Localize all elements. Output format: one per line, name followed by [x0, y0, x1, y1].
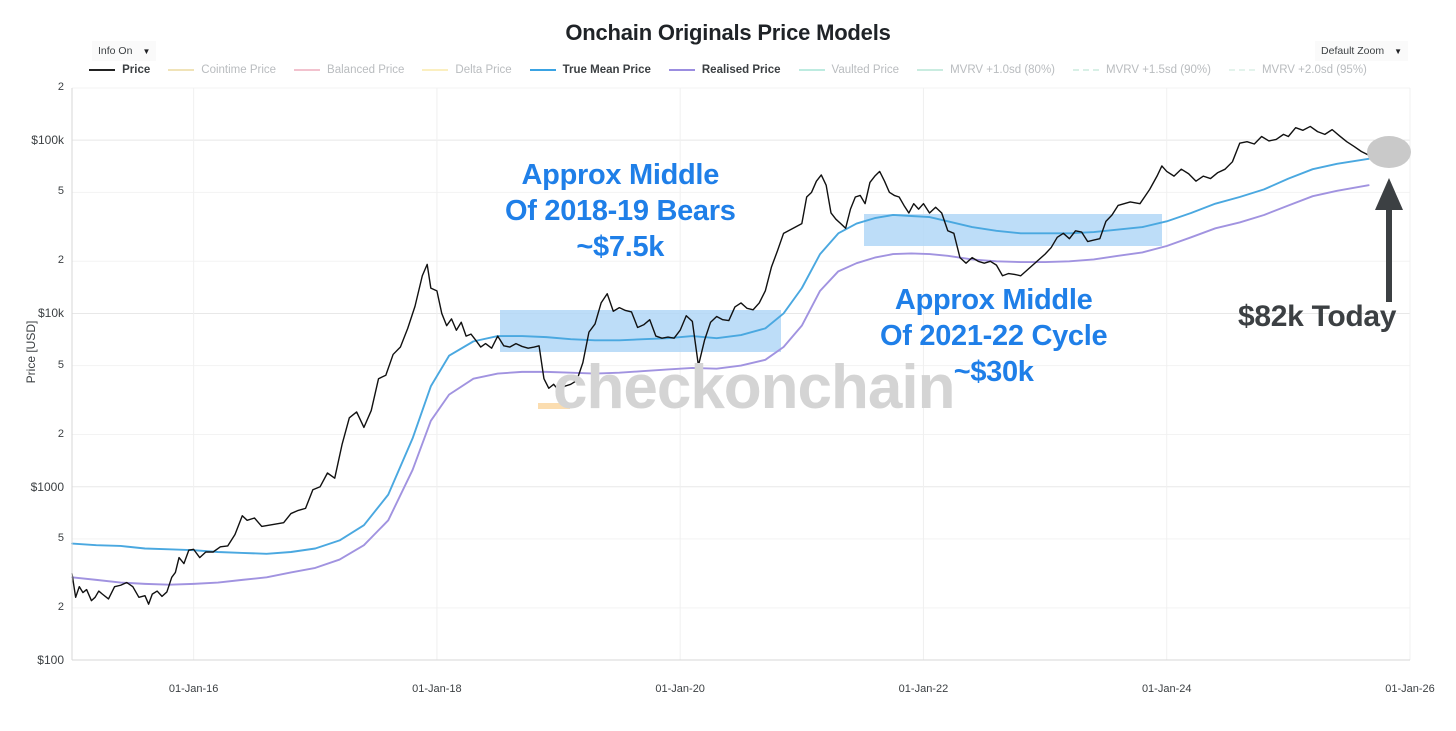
y-tick-label: $10k	[2, 306, 64, 320]
annotation-line: ~$7.5k	[505, 230, 736, 266]
x-tick-label: 01-Jan-24	[1107, 683, 1227, 695]
today-marker	[1367, 136, 1411, 168]
annotation-today-price: $82k Today	[1238, 300, 1396, 334]
annotation-line: ~$30k	[880, 355, 1107, 391]
y-tick-label: 5	[2, 185, 64, 197]
y-tick-label: $100	[2, 653, 64, 667]
x-tick-label: 01-Jan-22	[863, 683, 983, 695]
annotation-2018-19-bears: Approx MiddleOf 2018-19 Bears~$7.5k	[505, 158, 736, 266]
x-tick-label: 01-Jan-20	[620, 683, 740, 695]
x-tick-label: 01-Jan-16	[134, 683, 254, 695]
y-tick-label: $100k	[2, 133, 64, 147]
y-tick-label: 2	[2, 601, 64, 613]
y-tick-label: 5	[2, 359, 64, 371]
band-2018-19-bears	[500, 310, 781, 352]
y-tick-label: 2	[2, 254, 64, 266]
annotation-line: Approx Middle	[505, 158, 736, 194]
y-tick-label: 2	[2, 428, 64, 440]
x-tick-label: 01-Jan-18	[377, 683, 497, 695]
annotation-line: Of 2021-22 Cycle	[880, 319, 1107, 355]
annotation-line: Of 2018-19 Bears	[505, 194, 736, 230]
x-tick-label: 01-Jan-26	[1350, 683, 1456, 695]
annotation-2021-22-cycle: Approx MiddleOf 2021-22 Cycle~$30k	[880, 283, 1107, 391]
y-tick-label: 5	[2, 532, 64, 544]
y-tick-label: 2	[2, 81, 64, 93]
y-tick-label: $1000	[2, 480, 64, 494]
annotation-line: $82k Today	[1238, 300, 1396, 334]
annotation-line: Approx Middle	[880, 283, 1107, 319]
